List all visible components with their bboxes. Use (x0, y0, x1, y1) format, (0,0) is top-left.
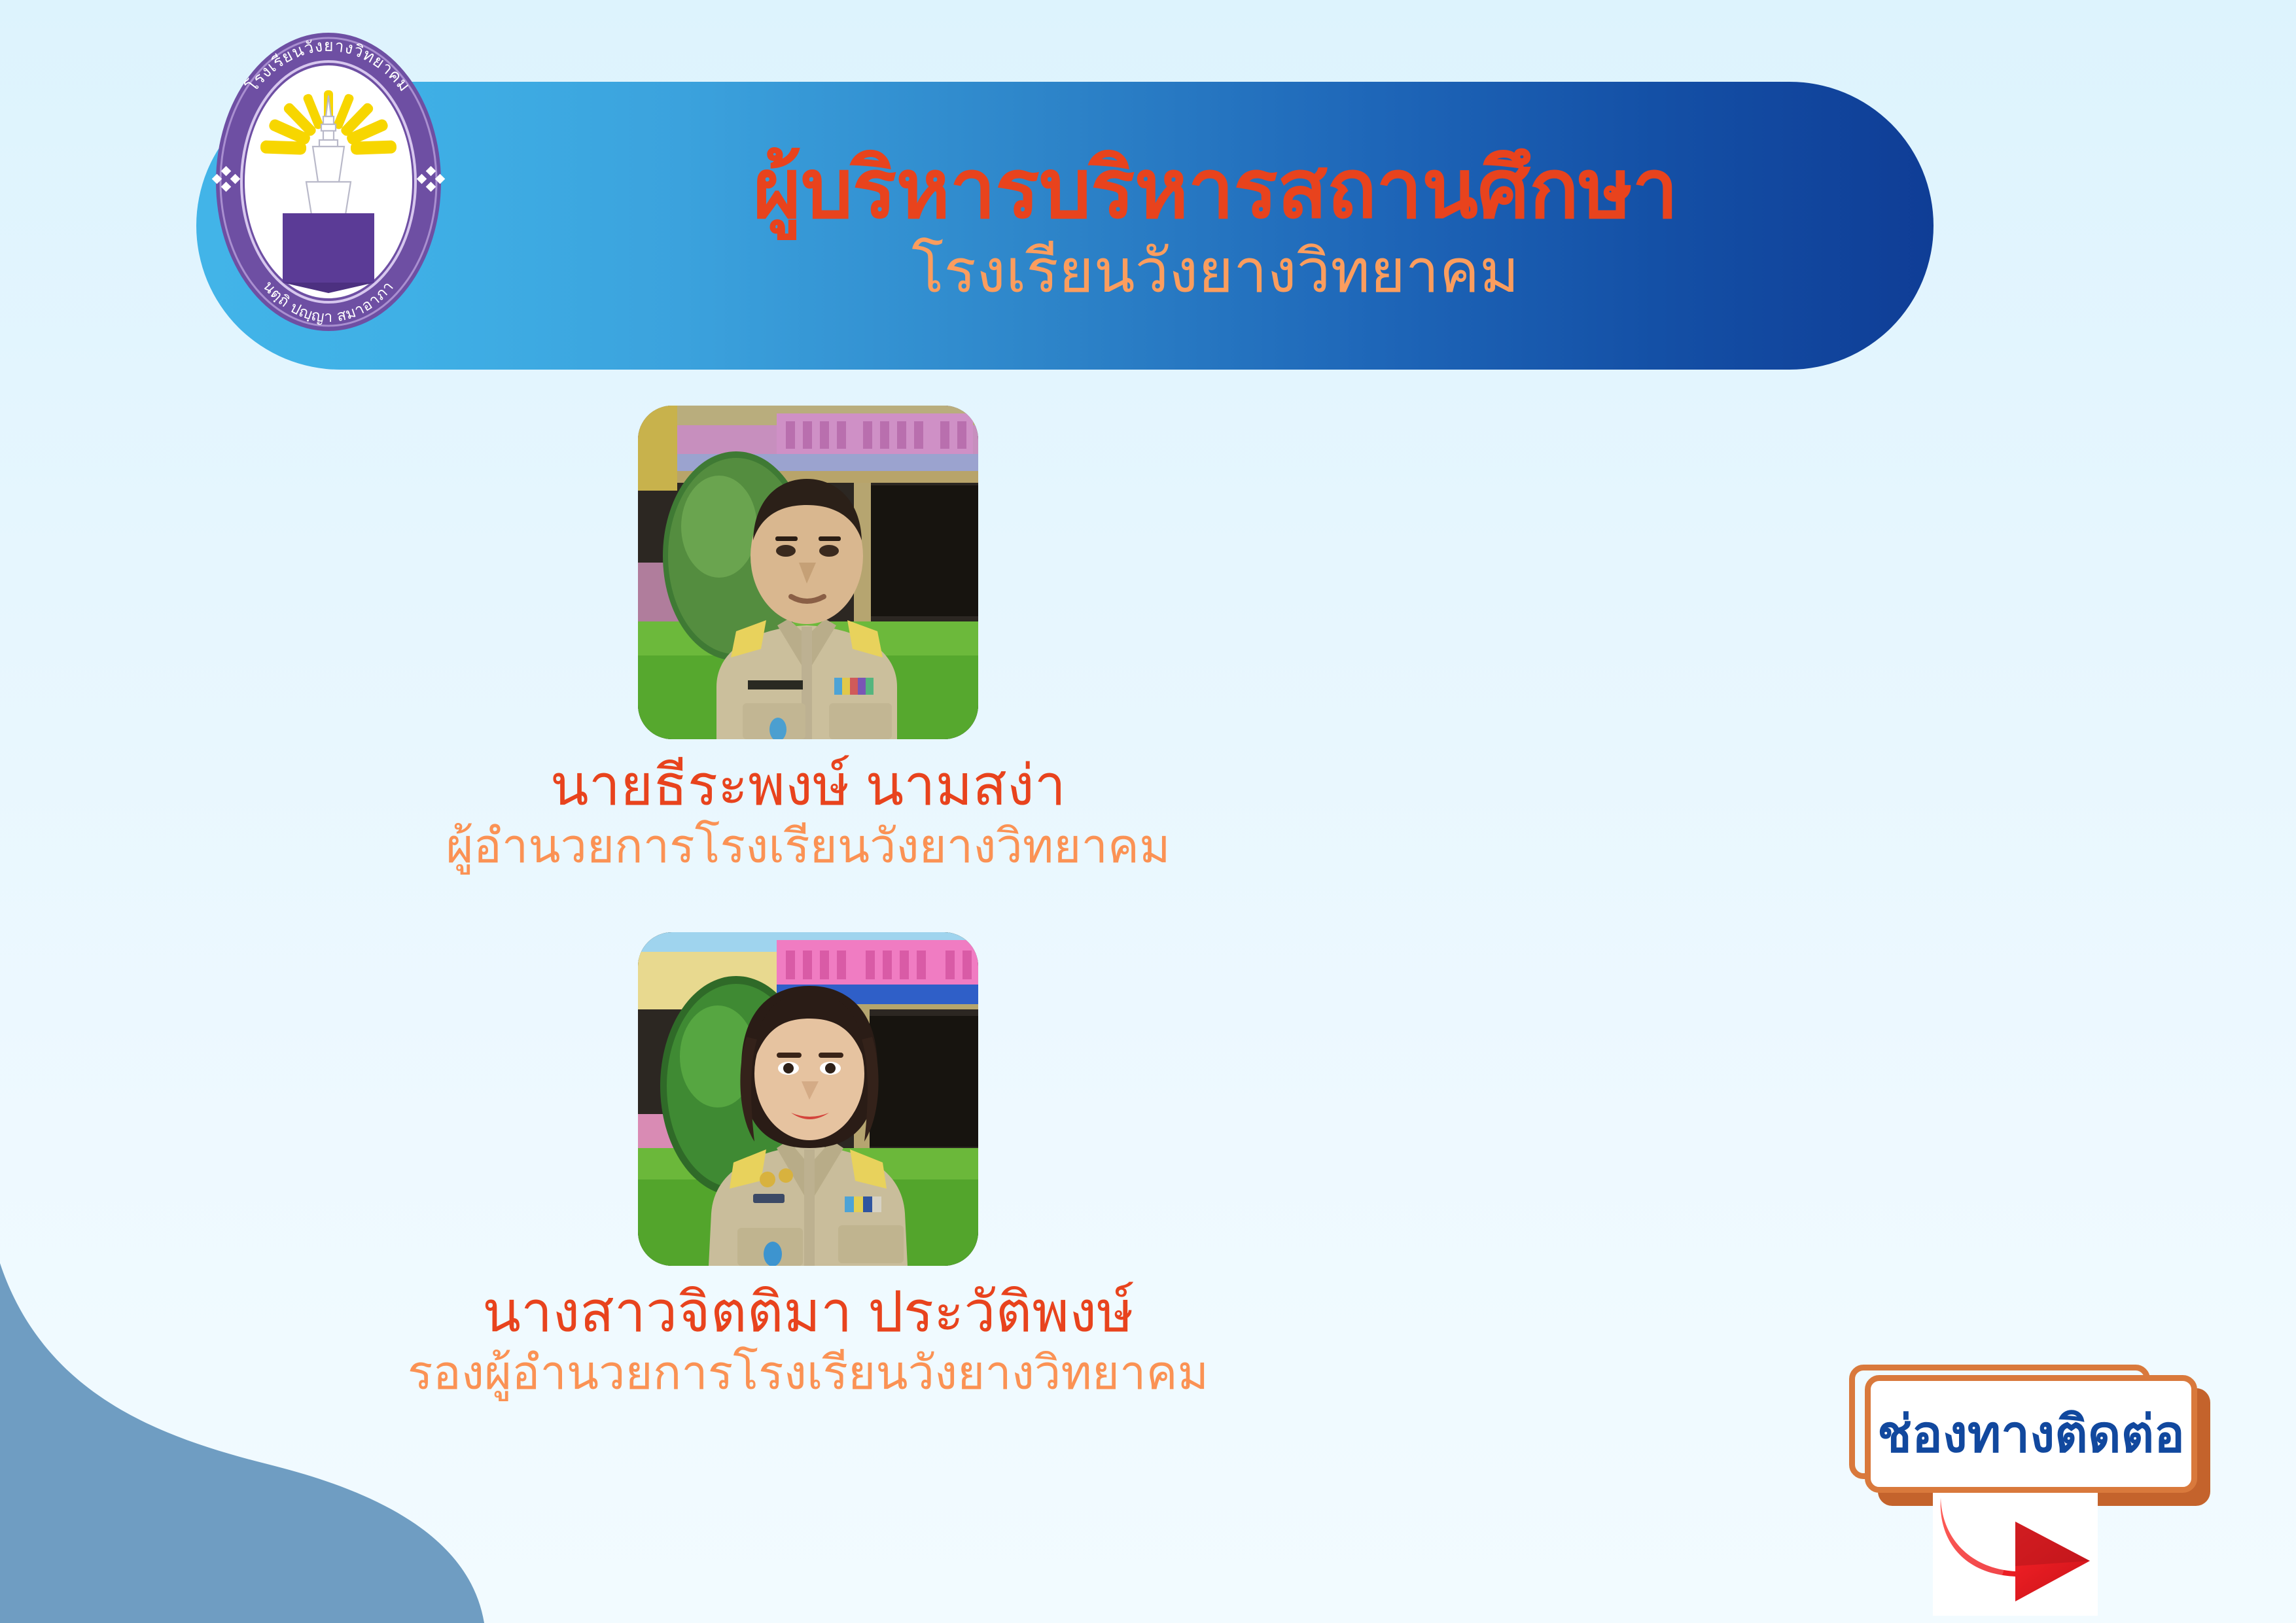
person-card-deputy-director: นางสาวจิตติมา ประวัติพงษ์ รองผู้อำนวยการ… (408, 932, 1209, 1400)
person-name: นายธีระพงษ์ นามสง่า (550, 755, 1066, 817)
person-card-director: นายธีระพงษ์ นามสง่า ผู้อำนวยการโรงเรียนว… (446, 406, 1170, 873)
page-title: ผู้บริหารบริหารสถานศึกษา (753, 145, 1678, 234)
avatar-photo-deputy-director (638, 932, 978, 1266)
person-role: ผู้อำนวยการโรงเรียนวังยางวิทยาคม (446, 820, 1170, 874)
administrators-list: นายธีระพงษ์ นามสง่า ผู้อำนวยการโรงเรียนว… (0, 406, 1616, 1401)
page-subtitle: โรงเรียนวังยางวิทยาคม (911, 237, 1519, 307)
down-right-arrow-icon (1933, 1493, 2098, 1616)
contact-button[interactable]: ช่องทางติดต่อ (1865, 1375, 2197, 1493)
slide-canvas: ผู้บริหารบริหารสถานศึกษา โรงเรียนวังยางว… (0, 0, 2296, 1623)
person-name: นางสาวจิตติมา ประวัติพงษ์ (482, 1282, 1134, 1344)
avatar-photo-director (638, 406, 978, 739)
contact-button-label: ช่องทางติดต่อ (1877, 1408, 2185, 1459)
school-logo: โรงเรียนวังยางวิทยาคม นตฺถิ ปญฺญา สมาอาภ… (185, 18, 472, 345)
contact-cta-group: ช่องทางติดต่อ (1849, 1365, 2255, 1623)
person-role: รองผู้อำนวยการโรงเรียนวังยางวิทยาคม (408, 1346, 1209, 1401)
header-text-group: ผู้บริหารบริหารสถานศึกษา โรงเรียนวังยางว… (497, 82, 1934, 370)
